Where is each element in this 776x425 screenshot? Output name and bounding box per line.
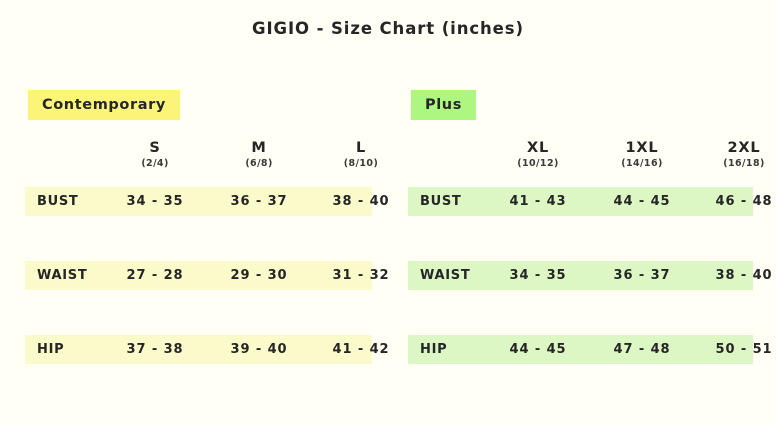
cell-waist-m: 29 - 30 <box>211 261 307 290</box>
cell-bust-2xl: 46 - 48 <box>696 187 776 216</box>
cell-bust-m: 36 - 37 <box>211 187 307 216</box>
column-numeric-label: (10/12) <box>490 157 586 171</box>
column-header-s: S (2/4) <box>107 140 203 171</box>
cell-bust-xl: 41 - 43 <box>490 187 586 216</box>
column-numeric-label: (2/4) <box>107 157 203 171</box>
cell-waist-2xl: 38 - 40 <box>696 261 776 290</box>
cell-hip-xl: 44 - 45 <box>490 335 586 364</box>
row-label-waist: WAIST <box>420 261 470 290</box>
size-table-contemporary: Contemporary S (2/4) M (6/8) L (8/10) BU… <box>25 0 372 425</box>
table-row: WAIST 34 - 35 36 - 37 38 - 40 <box>408 261 753 290</box>
cell-hip-2xl: 50 - 51 <box>696 335 776 364</box>
size-table-plus: Plus XL (10/12) 1XL (14/16) 2XL (16/18) … <box>408 0 753 425</box>
column-header-1xl: 1XL (14/16) <box>594 140 690 171</box>
row-label-bust: BUST <box>420 187 462 216</box>
cell-bust-1xl: 44 - 45 <box>594 187 690 216</box>
column-numeric-label: (16/18) <box>696 157 776 171</box>
section-badge-contemporary: Contemporary <box>28 90 180 120</box>
column-size-label: M <box>211 140 307 157</box>
column-header-2xl: 2XL (16/18) <box>696 140 776 171</box>
cell-waist-l: 31 - 32 <box>313 261 409 290</box>
table-row: HIP 37 - 38 39 - 40 41 - 42 <box>25 335 372 364</box>
column-size-label: XL <box>490 140 586 157</box>
column-header-l: L (8/10) <box>313 140 409 171</box>
column-numeric-label: (8/10) <box>313 157 409 171</box>
cell-waist-s: 27 - 28 <box>107 261 203 290</box>
column-numeric-label: (6/8) <box>211 157 307 171</box>
column-size-label: 2XL <box>696 140 776 157</box>
cell-bust-l: 38 - 40 <box>313 187 409 216</box>
cell-hip-l: 41 - 42 <box>313 335 409 364</box>
section-badge-plus: Plus <box>411 90 476 120</box>
column-size-label: L <box>313 140 409 157</box>
cell-waist-1xl: 36 - 37 <box>594 261 690 290</box>
column-headers-contemporary: S (2/4) M (6/8) L (8/10) <box>25 140 372 182</box>
cell-hip-1xl: 47 - 48 <box>594 335 690 364</box>
table-row: HIP 44 - 45 47 - 48 50 - 51 <box>408 335 753 364</box>
table-row: WAIST 27 - 28 29 - 30 31 - 32 <box>25 261 372 290</box>
cell-hip-s: 37 - 38 <box>107 335 203 364</box>
column-size-label: S <box>107 140 203 157</box>
row-label-bust: BUST <box>37 187 79 216</box>
column-header-m: M (6/8) <box>211 140 307 171</box>
cell-bust-s: 34 - 35 <box>107 187 203 216</box>
column-numeric-label: (14/16) <box>594 157 690 171</box>
row-label-hip: HIP <box>420 335 447 364</box>
column-header-xl: XL (10/12) <box>490 140 586 171</box>
size-chart-page: GIGIO - Size Chart (inches) Contemporary… <box>0 0 776 425</box>
row-label-hip: HIP <box>37 335 64 364</box>
table-row: BUST 41 - 43 44 - 45 46 - 48 <box>408 187 753 216</box>
column-size-label: 1XL <box>594 140 690 157</box>
cell-hip-m: 39 - 40 <box>211 335 307 364</box>
cell-waist-xl: 34 - 35 <box>490 261 586 290</box>
column-headers-plus: XL (10/12) 1XL (14/16) 2XL (16/18) <box>408 140 753 182</box>
table-row: BUST 34 - 35 36 - 37 38 - 40 <box>25 187 372 216</box>
row-label-waist: WAIST <box>37 261 87 290</box>
